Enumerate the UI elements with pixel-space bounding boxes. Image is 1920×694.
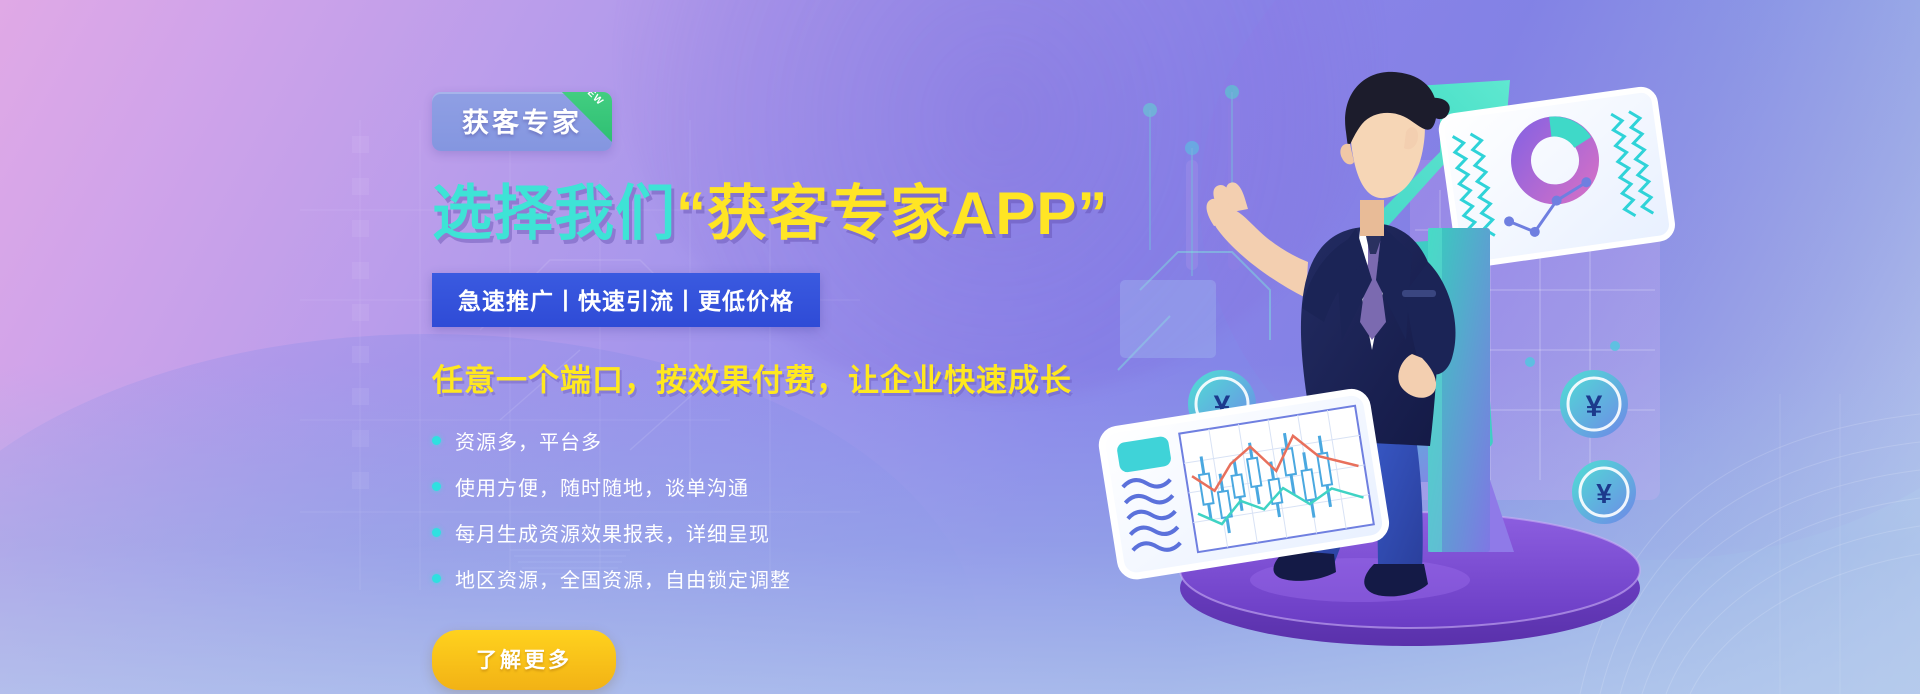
tagline: 任意一个端口，按效果付费，让企业快速成长	[432, 355, 1132, 400]
bullet-dot-icon	[432, 482, 441, 491]
list-item-label: 每月生成资源效果报表，详细呈现	[455, 518, 770, 547]
svg-text:¥: ¥	[1596, 478, 1612, 509]
feature-strip: 急速推广丨快速引流丨更低价格	[432, 273, 820, 327]
list-item: 每月生成资源效果报表，详细呈现	[432, 518, 1132, 547]
new-ribbon-label: NEW	[579, 92, 605, 108]
feature-strip-label: 急速推广丨快速引流丨更低价格	[458, 288, 794, 314]
list-item-label: 使用方便，随时随地，谈单沟通	[455, 472, 749, 501]
currency-coin-icon: ¥	[1560, 370, 1628, 438]
product-badge: 获客专家 NEW	[432, 92, 612, 151]
hero-illustration: ¥ ¥ ¥	[1110, 40, 1670, 660]
bullet-dot-icon	[432, 528, 441, 537]
currency-coin-icon: ¥	[1572, 460, 1636, 524]
headline-highlight: “获客专家APP”	[676, 180, 1108, 247]
list-item: 使用方便，随时随地，谈单沟通	[432, 472, 1132, 501]
product-badge-label: 获客专家	[462, 108, 582, 138]
list-item: 资源多，平台多	[432, 426, 1132, 455]
bullet-dot-icon	[432, 574, 441, 583]
headline-primary: 选择我们	[432, 180, 676, 247]
promo-banner: 获客专家 NEW 选择我们“获客专家APP” 急速推广丨快速引流丨更低价格 任意…	[0, 0, 1920, 694]
svg-text:¥: ¥	[1586, 390, 1603, 423]
bullet-dot-icon	[432, 436, 441, 445]
feature-list: 资源多，平台多 使用方便，随时随地，谈单沟通 每月生成资源效果报表，详细呈现 地…	[432, 426, 1132, 593]
page-title: 选择我们“获客专家APP”	[432, 182, 1132, 245]
banner-content: 获客专家 NEW 选择我们“获客专家APP” 急速推广丨快速引流丨更低价格 任意…	[432, 92, 1132, 690]
list-item: 地区资源，全国资源，自由锁定调整	[432, 564, 1132, 593]
list-item-label: 资源多，平台多	[455, 426, 602, 455]
learn-more-button[interactable]: 了解更多	[432, 630, 616, 690]
learn-more-button-label: 了解更多	[476, 649, 572, 672]
list-item-label: 地区资源，全国资源，自由锁定调整	[455, 564, 791, 593]
